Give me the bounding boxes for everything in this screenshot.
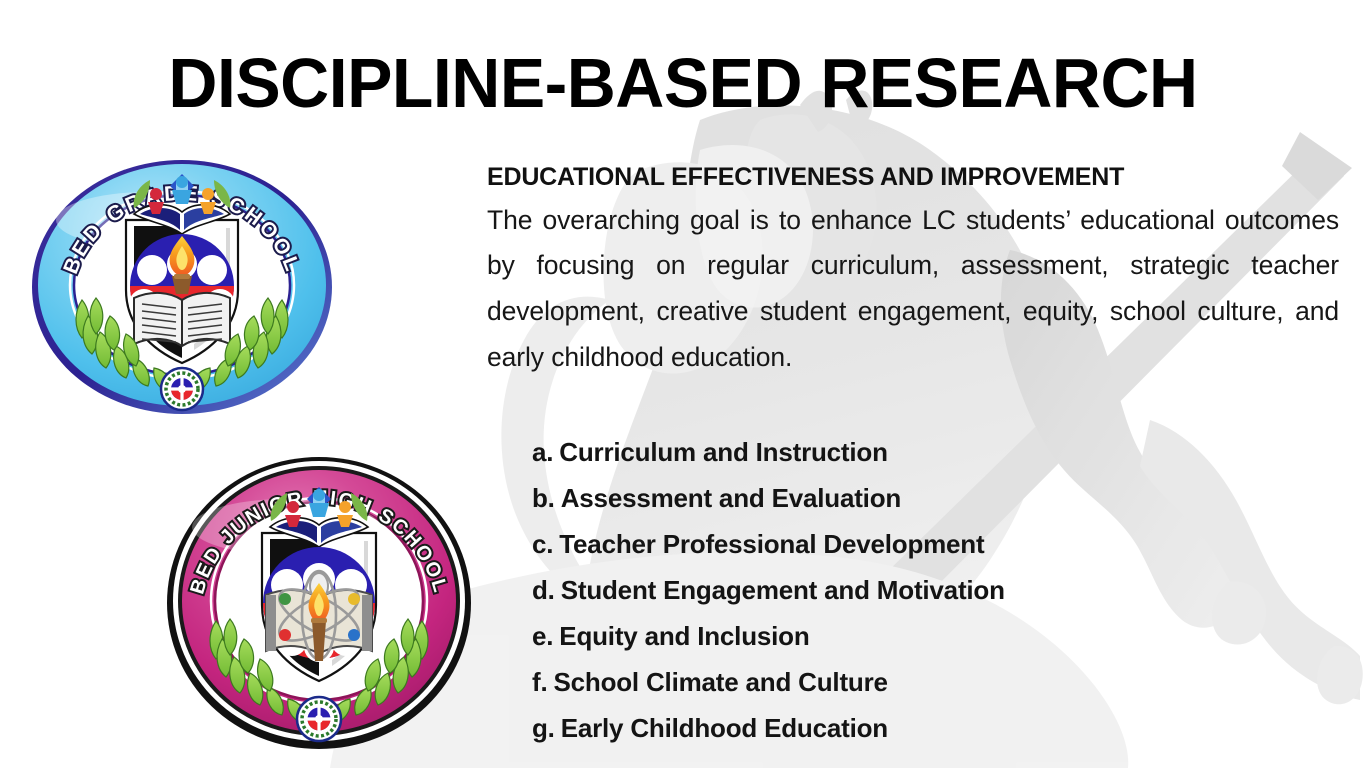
section-subheading: EDUCATIONAL EFFECTIVENESS AND IMPROVEMEN… (487, 163, 1339, 193)
list-item: e.Equity and Inclusion (532, 613, 1005, 659)
list-marker: e. (532, 621, 553, 651)
list-item-label: Early Childhood Education (561, 713, 888, 743)
list-item: f.School Climate and Culture (532, 659, 1005, 705)
school-seal-icon (161, 368, 203, 410)
body-paragraph: The overarching goal is to enhance LC st… (487, 198, 1339, 381)
list-item: d.Student Engagement and Motivation (532, 567, 1005, 613)
list-marker: g. (532, 713, 555, 743)
emblem-bed-grade-school: BED GRADE SCHOOL (30, 158, 334, 416)
list-item: c.Teacher Professional Development (532, 521, 1005, 567)
list-item-label: Student Engagement and Motivation (561, 575, 1005, 605)
list-marker: b. (532, 483, 555, 513)
body-text-column: EDUCATIONAL EFFECTIVENESS AND IMPROVEMEN… (487, 163, 1339, 381)
list-item-label: Teacher Professional Development (559, 529, 984, 559)
list-item-label: Equity and Inclusion (559, 621, 809, 651)
list-marker: c. (532, 529, 553, 559)
list-marker: a. (532, 437, 553, 467)
school-seal-icon (297, 697, 341, 741)
list-item-label: Assessment and Evaluation (561, 483, 901, 513)
list-item-label: School Climate and Culture (553, 667, 887, 697)
list-marker: f. (532, 667, 547, 697)
research-areas-list: a.Curriculum and Instruction b.Assessmen… (532, 429, 1005, 751)
list-item: b.Assessment and Evaluation (532, 475, 1005, 521)
emblem-bed-junior-high-school: BED JUNIOR HIGH SCHOOL (166, 455, 472, 751)
list-item: g.Early Childhood Education (532, 705, 1005, 751)
slide-canvas: DISCIPLINE-BASED RESEARCH (0, 0, 1366, 768)
list-marker: d. (532, 575, 555, 605)
list-item: a.Curriculum and Instruction (532, 429, 1005, 475)
page-title: DISCIPLINE-BASED RESEARCH (20, 48, 1345, 118)
list-item-label: Curriculum and Instruction (559, 437, 887, 467)
